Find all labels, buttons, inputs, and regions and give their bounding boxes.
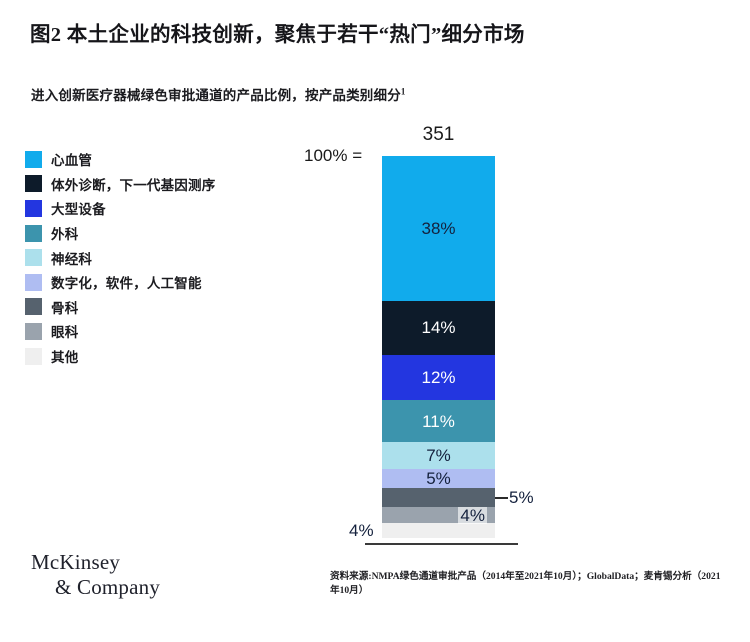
logo-line-2: & Company: [31, 575, 160, 600]
legend-item[interactable]: 心血管: [25, 147, 325, 172]
legend-color-swatch: [25, 151, 42, 168]
bar-segment-value-label: 12%: [421, 369, 455, 386]
legend-color-swatch: [25, 298, 42, 315]
legend-item-label: 体外诊断，下一代基因测序: [51, 174, 215, 194]
bar-segment[interactable]: 4%: [382, 507, 495, 522]
source-note: 资料来源:NMPA绿色通道审批产品（2014年至2021年10月）；Global…: [330, 570, 730, 597]
bar-segment-value-label: 11%: [422, 413, 455, 430]
legend-item[interactable]: 外科: [25, 221, 325, 246]
bar-segment[interactable]: 4%: [382, 523, 495, 538]
mckinsey-logo: McKinsey & Company: [31, 550, 160, 600]
bar-segment-value-label: 38%: [421, 220, 455, 237]
baseline-axis: [365, 543, 518, 545]
footnote-marker: 1: [401, 87, 406, 97]
legend-item[interactable]: 骨科: [25, 295, 325, 320]
page-subtitle-text: 进入创新医疗器械绿色审批通道的产品比例，按产品类别细分: [31, 88, 401, 103]
legend-color-swatch: [25, 348, 42, 365]
bar-segment[interactable]: 14%: [382, 301, 495, 354]
legend-color-swatch: [25, 225, 42, 242]
bar-segment-value-label: 4%: [346, 522, 377, 539]
legend-item-label: 心血管: [51, 149, 92, 169]
bar-segment[interactable]: 5%: [382, 488, 495, 507]
bar-segment-value-label: 5%: [509, 489, 534, 506]
legend-item-label: 骨科: [51, 297, 78, 317]
legend-color-swatch: [25, 200, 42, 217]
chart-legend: 心血管体外诊断，下一代基因测序大型设备外科神经科数字化，软件，人工智能骨科眼科其…: [25, 147, 325, 368]
bar-segment-value-label: 5%: [426, 470, 451, 487]
legend-item-label: 大型设备: [51, 198, 106, 218]
legend-color-swatch: [25, 323, 42, 340]
stacked-bar-column: 38%14%12%11%7%5%5%4%4%: [382, 156, 495, 538]
legend-item[interactable]: 大型设备: [25, 196, 325, 221]
legend-item[interactable]: 体外诊断，下一代基因测序: [25, 172, 325, 197]
bar-segment[interactable]: 11%: [382, 400, 495, 442]
bar-segment-value-label: 7%: [426, 447, 451, 464]
legend-item[interactable]: 数字化，软件，人工智能: [25, 270, 325, 295]
legend-item-label: 外科: [51, 223, 78, 243]
page-subtitle: 进入创新医疗器械绿色审批通道的产品比例，按产品类别细分1: [31, 84, 406, 104]
legend-item-label: 数字化，软件，人工智能: [51, 272, 202, 292]
bar-segment-value-label: 4%: [458, 507, 487, 524]
legend-item-label: 神经科: [51, 248, 92, 268]
legend-item[interactable]: 神经科: [25, 245, 325, 270]
bar-segment[interactable]: 12%: [382, 355, 495, 401]
legend-color-swatch: [25, 249, 42, 266]
leader-line: [495, 497, 508, 499]
bar-segment[interactable]: 5%: [382, 469, 495, 488]
page-title-text: 本土企业的科技创新，聚焦于若干“热门”细分市场: [67, 24, 525, 46]
logo-line-1: McKinsey: [31, 550, 120, 574]
legend-item[interactable]: 眼科: [25, 319, 325, 344]
legend-item[interactable]: 其他: [25, 344, 325, 369]
legend-item-label: 其他: [51, 346, 78, 366]
bar-segment[interactable]: 7%: [382, 442, 495, 469]
figure-number: 图2: [30, 24, 61, 46]
legend-color-swatch: [25, 175, 42, 192]
bar-segment[interactable]: 38%: [382, 156, 495, 301]
page-title: 图2 本土企业的科技创新，聚焦于若干“热门”细分市场: [30, 17, 525, 47]
legend-item-label: 眼科: [51, 321, 78, 341]
column-total-label: 351: [382, 124, 495, 146]
percent-equals-label: 100% =: [304, 146, 362, 166]
bar-segment-value-label: 14%: [421, 319, 455, 336]
legend-color-swatch: [25, 274, 42, 291]
